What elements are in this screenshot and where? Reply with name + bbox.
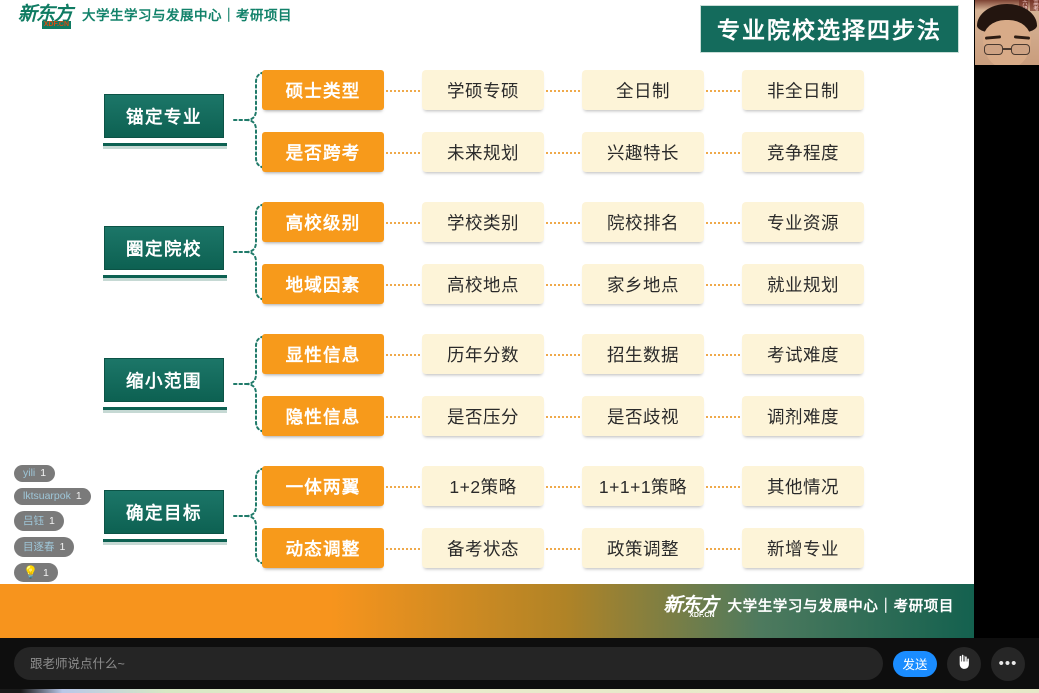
connector-dots [386, 486, 424, 488]
detail-node: 调剂难度 [742, 396, 864, 436]
more-options-icon: ••• [999, 659, 1018, 669]
detail-node-text: 学硕专硕 [447, 78, 519, 103]
detail-node: 备考状态 [422, 528, 544, 568]
detail-node: 未来规划 [422, 132, 544, 172]
detail-node-text: 未来规划 [447, 140, 519, 165]
detail-node: 其他情况 [742, 466, 864, 506]
detail-node-text: 是否歧视 [607, 404, 679, 429]
message-input[interactable] [14, 647, 883, 680]
detail-node-text: 学校类别 [447, 210, 519, 235]
diagram-row: 圈定院校 高校级别 学校类别 院校排名 专业资源 地域因素 高校地点 家 [0, 188, 974, 320]
chat-message: 吕钰 1 [14, 511, 64, 531]
branch-head: 地域因素 [262, 264, 384, 304]
step-label-text: 圈定院校 [126, 236, 202, 261]
branch-head-text: 隐性信息 [286, 404, 361, 429]
detail-node: 专业资源 [742, 202, 864, 242]
header-subtitle: 大学生学习与发展中心｜考研项目 [82, 4, 292, 24]
chat-count: 1 [43, 567, 49, 579]
branch-head-text: 显性信息 [286, 342, 361, 367]
detail-node: 是否歧视 [582, 396, 704, 436]
xdf-logo-footer-domain: XDF.CN [687, 612, 716, 620]
slide-footer-brand: 新东方 XDF.CN 大学生学习与发展中心｜考研项目 [663, 595, 954, 616]
connector-dots [386, 90, 424, 92]
chat-message: 💡 1 [14, 563, 58, 582]
detail-node: 兴趣特长 [582, 132, 704, 172]
more-options-button[interactable]: ••• [991, 647, 1025, 681]
xdf-logo-footer: 新东方 XDF.CN [663, 596, 717, 615]
webcam-face [983, 20, 1031, 65]
branch-head: 硕士类型 [262, 70, 384, 110]
connector-dots [386, 354, 424, 356]
detail-node: 非全日制 [742, 70, 864, 110]
detail-node-text: 竞争程度 [767, 140, 839, 165]
connector-dots [706, 152, 744, 154]
branch-head-text: 地域因素 [286, 272, 361, 297]
detail-node: 历年分数 [422, 334, 544, 374]
slide-title-text: 专业院校选择四步法 [717, 17, 942, 43]
branch-head: 显性信息 [262, 334, 384, 374]
chat-message: 目逐春 1 [14, 537, 74, 557]
connector-dots [546, 284, 584, 286]
detail-node: 1+1+1策略 [582, 466, 704, 506]
xdf-logo-domain: XDF.CN [42, 21, 71, 29]
detail-node-text: 考试难度 [767, 342, 839, 367]
slide-footer: 新东方 XDF.CN 大学生学习与发展中心｜考研项目 [0, 584, 974, 638]
detail-node: 考试难度 [742, 334, 864, 374]
chat-message: lktsuarpok 1 [14, 488, 91, 505]
raise-hand-icon [956, 654, 973, 674]
branch-head: 动态调整 [262, 528, 384, 568]
detail-node-text: 高校地点 [447, 272, 519, 297]
chat-count: 1 [76, 490, 82, 502]
connector-dots [386, 152, 424, 154]
branch-head-text: 硕士类型 [286, 78, 361, 103]
detail-node: 1+2策略 [422, 466, 544, 506]
detail-node-text: 非全日制 [767, 78, 839, 103]
connector-dots [706, 90, 744, 92]
connector-dots [546, 486, 584, 488]
presentation-slide: 新东方 XDF.CN 大学生学习与发展中心｜考研项目 专业院校选择四步法 锚定专… [0, 0, 974, 638]
detail-node-text: 院校排名 [607, 210, 679, 235]
chat-sender: lktsuarpok [23, 490, 71, 502]
detail-node: 院校排名 [582, 202, 704, 242]
bottom-color-strip [0, 689, 1039, 693]
detail-node: 新增专业 [742, 528, 864, 568]
chat-sender-emoji: 💡 [23, 565, 38, 579]
chat-sender: 目逐春 [23, 539, 55, 554]
branch-head: 是否跨考 [262, 132, 384, 172]
connector-dots [546, 548, 584, 550]
detail-node-text: 是否压分 [447, 404, 519, 429]
detail-node: 政策调整 [582, 528, 704, 568]
connector-dots [706, 284, 744, 286]
step-label-3: 缩小范围 [104, 358, 224, 402]
slide-title-banner: 专业院校选择四步法 [700, 5, 959, 53]
branch-head-text: 一体两翼 [286, 474, 361, 499]
footer-subtitle: 大学生学习与发展中心｜考研项目 [728, 595, 955, 616]
connector-dots [546, 152, 584, 154]
slide-header: 新东方 XDF.CN 大学生学习与发展中心｜考研项目 专业院校选择四步法 [0, 0, 974, 30]
step-label-2: 圈定院校 [104, 226, 224, 270]
detail-node: 学硕专硕 [422, 70, 544, 110]
detail-node-text: 招生数据 [607, 342, 679, 367]
connector-dots [546, 90, 584, 92]
detail-node-text: 其他情况 [767, 474, 839, 499]
connector-dots [386, 222, 424, 224]
branch-head-text: 高校级别 [286, 210, 361, 235]
step-label-1: 锚定专业 [104, 94, 224, 138]
detail-node: 学校类别 [422, 202, 544, 242]
detail-node-text: 新增专业 [767, 536, 839, 561]
detail-node-text: 1+1+1策略 [599, 474, 687, 499]
connector-dots [546, 416, 584, 418]
detail-node-text: 备考状态 [447, 536, 519, 561]
detail-node: 高校地点 [422, 264, 544, 304]
raise-hand-button[interactable] [947, 647, 981, 681]
detail-node: 就业规划 [742, 264, 864, 304]
detail-node-text: 家乡地点 [607, 272, 679, 297]
meeting-window: 新东方 XDF.CN 大学生学习与发展中心｜考研项目 专业院校选择四步法 锚定专… [0, 0, 1039, 693]
detail-node: 竞争程度 [742, 132, 864, 172]
send-button[interactable]: 发送 [893, 651, 937, 677]
connector-dots [706, 486, 744, 488]
chat-sender: yili [23, 467, 35, 479]
branch-head: 隐性信息 [262, 396, 384, 436]
message-bar: 发送 ••• [0, 638, 1039, 689]
detail-node: 是否压分 [422, 396, 544, 436]
detail-node-text: 全日制 [616, 78, 670, 103]
presenter-webcam-thumbnail[interactable]: 六级高考 [975, 0, 1039, 65]
connector-dots [706, 416, 744, 418]
chat-count: 1 [40, 467, 46, 479]
connector-dots [386, 416, 424, 418]
detail-node-text: 兴趣特长 [607, 140, 679, 165]
branch-head-text: 是否跨考 [286, 140, 361, 165]
connector-dots [706, 354, 744, 356]
connector-dots [706, 222, 744, 224]
chat-message: yili 1 [14, 465, 55, 482]
xdf-logo: 新东方 XDF.CN [18, 5, 72, 24]
chat-count: 1 [49, 515, 55, 527]
detail-node: 家乡地点 [582, 264, 704, 304]
chat-sender: 吕钰 [23, 513, 44, 528]
step-label-text: 锚定专业 [126, 104, 202, 129]
diagram-row: 缩小范围 显性信息 历年分数 招生数据 考试难度 隐性信息 是否压分 是 [0, 320, 974, 452]
detail-node-text: 历年分数 [447, 342, 519, 367]
detail-node: 招生数据 [582, 334, 704, 374]
connector-dots [386, 548, 424, 550]
chat-overlay: yili 1 lktsuarpok 1 吕钰 1 目逐春 1 💡 1 [14, 465, 254, 582]
detail-node-text: 调剂难度 [767, 404, 839, 429]
connector-dots [546, 354, 584, 356]
detail-node-text: 专业资源 [767, 210, 839, 235]
branch-head: 高校级别 [262, 202, 384, 242]
detail-node-text: 政策调整 [607, 536, 679, 561]
step-label-text: 缩小范围 [126, 368, 202, 393]
connector-dots [546, 222, 584, 224]
branch-head: 一体两翼 [262, 466, 384, 506]
slide-header-brand: 新东方 XDF.CN 大学生学习与发展中心｜考研项目 [18, 4, 292, 24]
webcam-glasses [983, 44, 1031, 55]
chat-count: 1 [60, 541, 66, 553]
connector-dots [386, 284, 424, 286]
detail-node-text: 就业规划 [767, 272, 839, 297]
detail-node: 全日制 [582, 70, 704, 110]
diagram-row: 锚定专业 硕士类型 学硕专硕 全日制 非全日制 是否跨考 未来规划 兴趣 [0, 56, 974, 188]
detail-node-text: 1+2策略 [449, 474, 516, 499]
branch-head-text: 动态调整 [286, 536, 361, 561]
connector-dots [706, 548, 744, 550]
